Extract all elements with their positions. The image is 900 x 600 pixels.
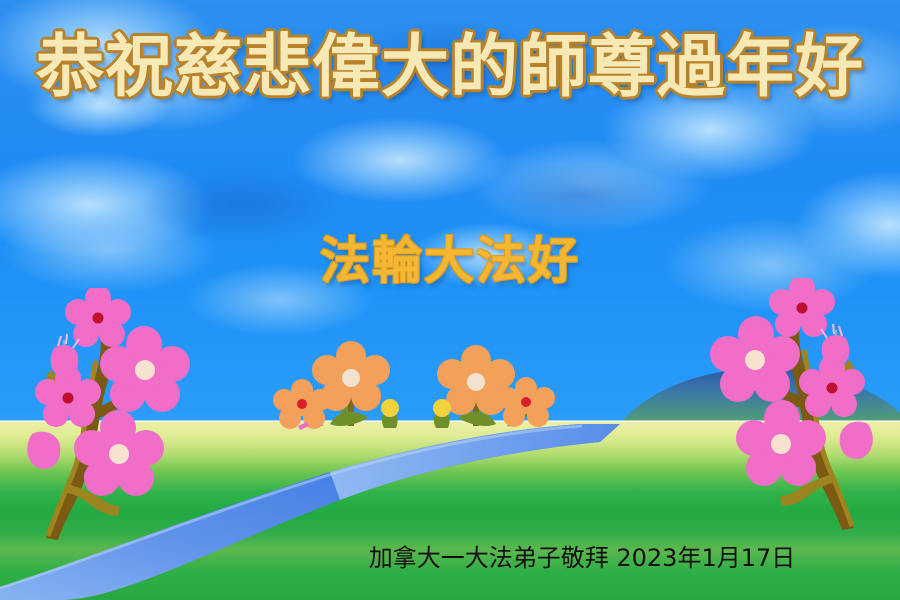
left-blossom-branch <box>18 288 208 546</box>
cloud-wisp <box>420 120 760 250</box>
blossom-center <box>135 360 155 380</box>
flower-center <box>521 397 531 407</box>
blossom <box>769 278 835 337</box>
flower-center <box>297 399 307 409</box>
leaf <box>330 412 368 426</box>
blossom-center <box>797 303 808 314</box>
meadow-flower-small <box>273 379 331 429</box>
blossom <box>65 288 131 347</box>
cloud-wisp <box>250 100 550 220</box>
signature-text: 加拿大一大法弟子敬拜 2023年1月17日 <box>369 546 796 570</box>
signature-line: 加拿大一大法弟子敬拜 2023年1月17日 <box>0 546 900 570</box>
right-blossom-branch <box>692 278 882 536</box>
greeting-title: 恭祝慈悲偉大的師尊過年好 <box>0 34 900 102</box>
meadow-flowers <box>270 340 570 435</box>
greeting-subtitle: 法輪大法好 <box>0 236 900 286</box>
blossom-bud <box>840 422 873 459</box>
blossom-center <box>93 313 104 324</box>
blossom-bud <box>766 375 784 393</box>
blossom-center <box>771 434 791 454</box>
blossom-center <box>827 383 838 394</box>
blossom-bud <box>116 385 134 403</box>
blossom-center <box>109 444 129 464</box>
blossom-center <box>63 393 74 404</box>
flower-center <box>467 373 485 391</box>
blossom-bud <box>27 432 60 469</box>
flower-center <box>342 369 360 387</box>
blossom-bud <box>84 467 102 485</box>
blossom-center <box>745 350 765 370</box>
greeting-card: 恭祝慈悲偉大的師尊過年好 法輪大法好 加拿大一大法弟子敬拜 2023年1月17日 <box>0 0 900 600</box>
cloud-shadow <box>460 150 700 240</box>
blossom-bud <box>798 457 816 475</box>
flower-bud <box>381 399 399 428</box>
flower-bud <box>433 399 451 428</box>
